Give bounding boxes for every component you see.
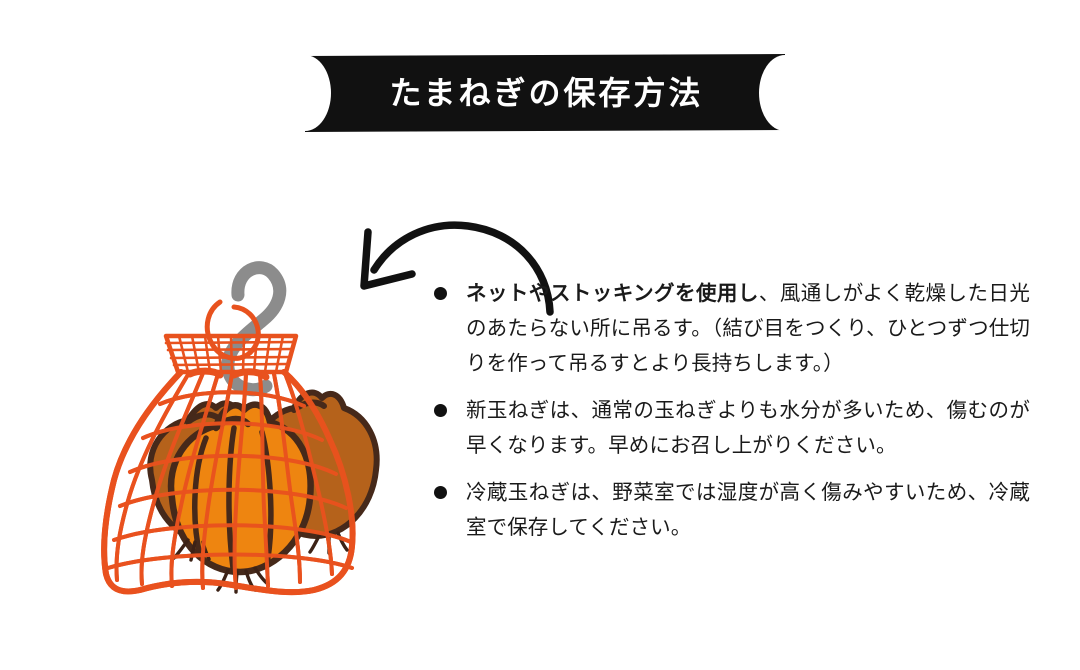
infographic-canvas: たまねぎの保存方法 xyxy=(0,0,1080,670)
list-item: ネットやストッキングを使用し、風通しがよく乾燥した日光のあたらない所に吊るす。（… xyxy=(432,276,1030,381)
note-text: 冷蔵玉ねぎは、野菜室では湿度が高く傷みやすいため、冷蔵室で保存してください。 xyxy=(466,481,1030,539)
bullet-icon xyxy=(434,404,447,417)
bullet-icon xyxy=(434,287,447,300)
page-title: たまねぎの保存方法 xyxy=(305,54,785,132)
bullet-icon xyxy=(434,486,447,499)
list-item: 新玉ねぎは、通常の玉ねぎよりも水分が多いため、傷むのが早くなります。早めにお召し… xyxy=(432,393,1030,463)
note-emphasis: ネットやストッキングを使用し xyxy=(466,282,759,305)
list-item: 冷蔵玉ねぎは、野菜室では湿度が高く傷みやすいため、冷蔵室で保存してください。 xyxy=(432,475,1030,545)
title-banner: たまねぎの保存方法 xyxy=(305,54,785,132)
notes-list: ネットやストッキングを使用し、風通しがよく乾燥した日光のあたらない所に吊るす。（… xyxy=(432,276,1030,545)
note-text: 新玉ねぎは、通常の玉ねぎよりも水分が多いため、傷むのが早くなります。早めにお召し… xyxy=(466,399,1030,457)
